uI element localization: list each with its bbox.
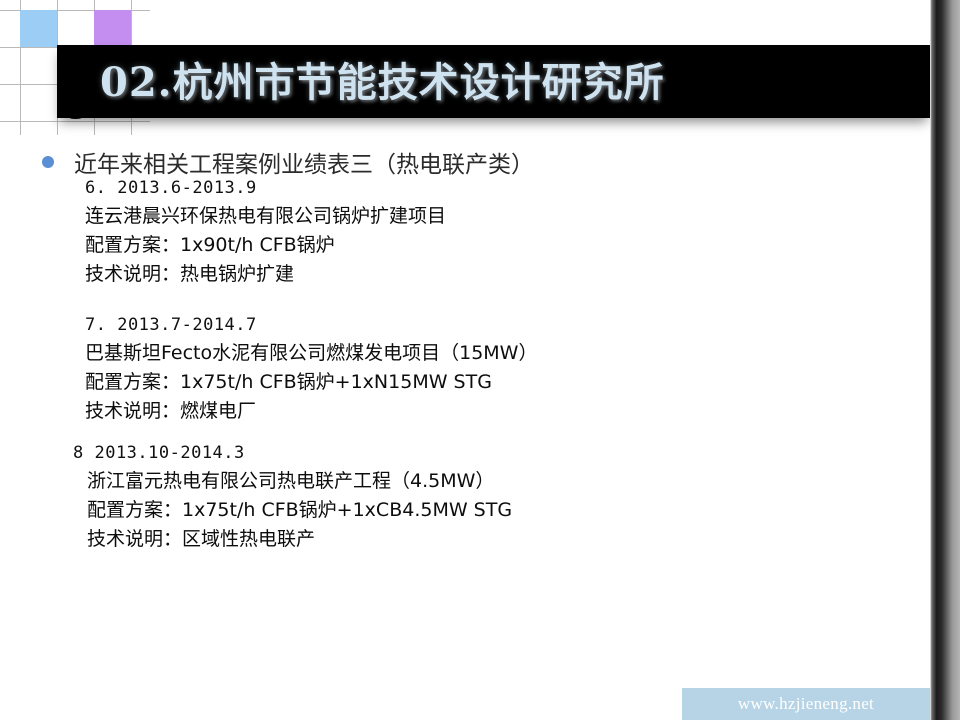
decor-square-light-blue (20, 10, 57, 47)
project-entry-8: 8 2013.10-2014.3 浙江富元热电有限公司热电联产工程（4.5MW）… (73, 443, 512, 554)
decor-square-purple (94, 10, 131, 47)
entry-configuration: 配置方案：1x90t/h CFB锅炉 (85, 231, 446, 260)
entry-project-name: 巴基斯坦Fecto水泥有限公司燃煤发电项目（15MW） (85, 339, 537, 368)
entry-body: 巴基斯坦Fecto水泥有限公司燃煤发电项目（15MW） 配置方案：1x75t/h… (85, 339, 537, 426)
entry-configuration: 配置方案：1x75t/h CFB锅炉+1xCB4.5MW STG (87, 496, 512, 525)
entry-number: 7. 2013.7-2014.7 (85, 315, 537, 335)
bullet-heading: 近年来相关工程案例业绩表三（热电联产类） (42, 145, 534, 179)
entry-technical-note: 技术说明：热电锅炉扩建 (85, 260, 446, 289)
project-entry-6: 6. 2013.6-2013.9 连云港晨兴环保热电有限公司锅炉扩建项目 配置方… (85, 178, 446, 289)
entry-number: 6. 2013.6-2013.9 (85, 178, 446, 198)
entry-project-name: 连云港晨兴环保热电有限公司锅炉扩建项目 (85, 202, 446, 231)
project-entry-7: 7. 2013.7-2014.7 巴基斯坦Fecto水泥有限公司燃煤发电项目（1… (85, 315, 537, 426)
entry-body: 浙江富元热电有限公司热电联产工程（4.5MW） 配置方案：1x75t/h CFB… (73, 467, 512, 554)
entry-number: 8 2013.10-2014.3 (73, 443, 512, 463)
slide-content: 近年来相关工程案例业绩表三（热电联产类） 6. 2013.6-2013.9 连云… (0, 140, 930, 660)
bullet-dot-icon (42, 156, 54, 168)
right-edge-strip (930, 0, 960, 720)
entry-project-name: 浙江富元热电有限公司热电联产工程（4.5MW） (87, 467, 512, 496)
grid-line-horizontal (0, 121, 150, 122)
footer-website-url: www.hzjieneng.net (682, 688, 930, 720)
entry-body: 连云港晨兴环保热电有限公司锅炉扩建项目 配置方案：1x90t/h CFB锅炉 技… (85, 202, 446, 289)
entry-configuration: 配置方案：1x75t/h CFB锅炉+1xN15MW STG (85, 368, 537, 397)
entry-technical-note: 技术说明：燃煤电厂 (85, 397, 537, 426)
presentation-slide: 02.杭州市节能技术设计研究所 近年来相关工程案例业绩表三（热电联产类） 6. … (0, 0, 960, 720)
bullet-heading-label: 近年来相关工程案例业绩表三（热电联产类） (74, 145, 534, 179)
entry-technical-note: 技术说明：区域性热电联产 (87, 525, 512, 554)
page-title: 02.杭州市节能技术设计研究所 (100, 52, 665, 114)
